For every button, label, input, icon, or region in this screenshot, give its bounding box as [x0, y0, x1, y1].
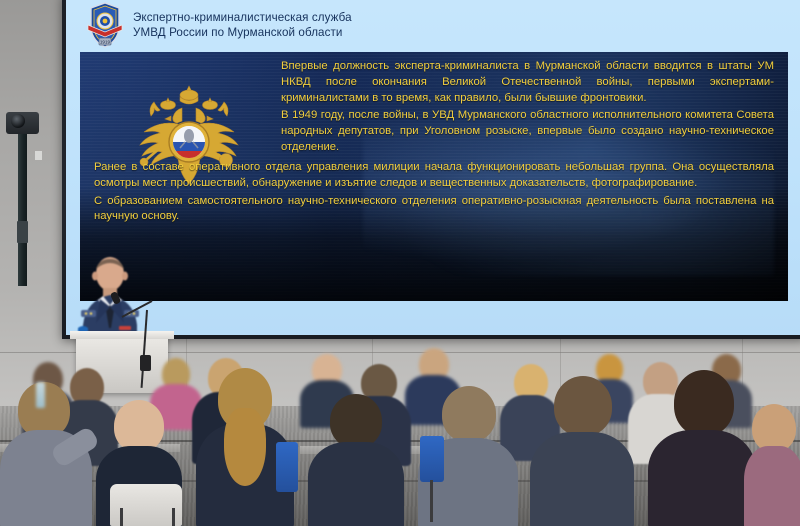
audience-member	[744, 400, 800, 526]
camera-lens-icon	[11, 114, 25, 128]
slide-text-container: Впервые должность эксперта-криминалиста …	[80, 52, 788, 301]
display-screen: 1919 Экспертно-криминалистическая служба…	[66, 0, 800, 335]
slide-header-text: Экспертно-криминалистическая служба УМВД…	[133, 10, 352, 41]
slide-content-board: Впервые должность эксперта-криминалиста …	[80, 52, 788, 301]
header-line-2: УМВД России по Мурманской области	[133, 25, 352, 40]
slide-paragraph-1: Впервые должность эксперта-криминалиста …	[281, 59, 774, 106]
water-bottle	[36, 382, 45, 408]
service-crest-icon: 1919	[86, 1, 124, 49]
podium-top-surface	[70, 331, 174, 339]
audience-member-with-phone	[0, 376, 92, 526]
slide-header: 1919 Экспертно-криминалистическая служба…	[66, 0, 800, 52]
chair-leg	[120, 508, 123, 526]
slide-paragraph-3: Ранее в составе оперативного отдела упра…	[94, 160, 774, 192]
audience-member	[648, 370, 756, 526]
camera-label-tag	[35, 151, 42, 160]
camera-mount-plate	[17, 221, 28, 243]
camera-mount	[18, 130, 27, 286]
chair-leg	[172, 508, 175, 526]
audience-member	[530, 376, 634, 526]
svg-text:1919: 1919	[100, 40, 111, 45]
slide-paragraph-2: В 1949 году, после войны, в УВД Мурманск…	[281, 108, 774, 155]
seated-audience	[0, 341, 800, 526]
header-line-1: Экспертно-криминалистическая служба	[133, 10, 352, 25]
conference-hall-scene: 1919 Экспертно-криминалистическая служба…	[0, 0, 800, 526]
chair	[420, 436, 444, 482]
chair	[276, 442, 298, 492]
slide-paragraph-4: С образованием самостоятельного научно-т…	[94, 194, 774, 226]
audience-member	[308, 390, 404, 526]
presentation-slide: 1919 Экспертно-криминалистическая служба…	[66, 0, 800, 335]
chair-leg	[430, 480, 433, 522]
projection-display: 1919 Экспертно-криминалистическая служба…	[62, 0, 800, 339]
